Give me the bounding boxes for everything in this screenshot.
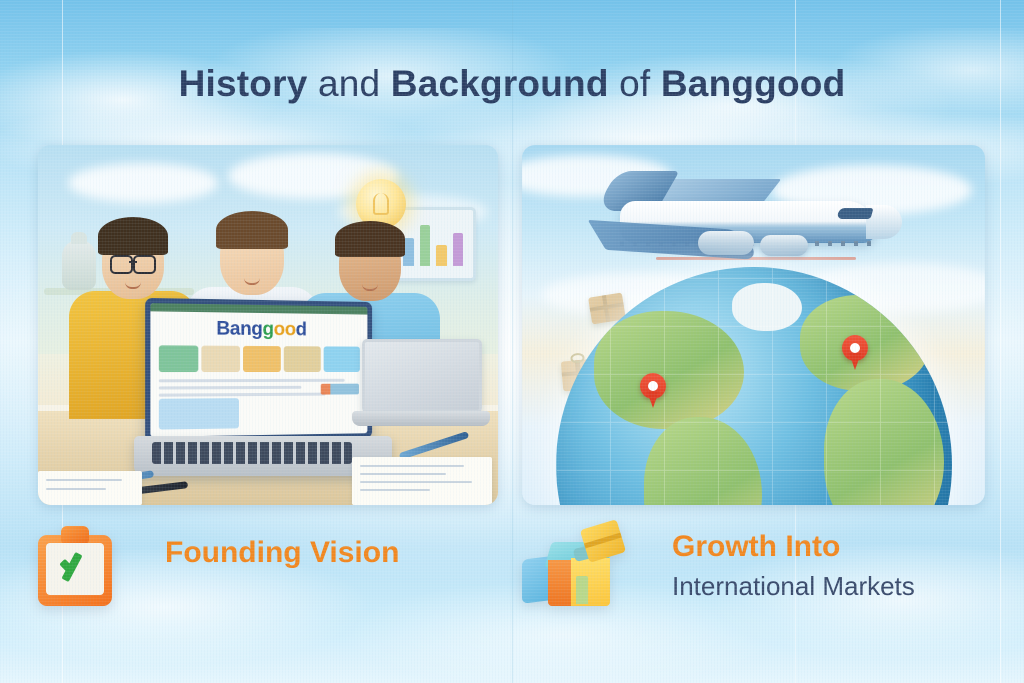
map-pin-europe[interactable] [842, 335, 868, 371]
site-topbar [150, 303, 367, 314]
cloud [68, 163, 218, 203]
title-part-banggood: Banggood [661, 63, 846, 104]
logo-oo: oo [274, 319, 296, 340]
promo-card [159, 398, 239, 429]
laptop-secondary-base [352, 411, 490, 426]
banggood-logo: Banggood [150, 319, 367, 341]
product-tiles [159, 345, 360, 372]
livery-stripe [656, 257, 856, 260]
logo-g: g [263, 319, 274, 340]
airplane-icon [590, 173, 890, 278]
engine [698, 231, 754, 255]
document-sheet [38, 471, 142, 505]
logo-d: d [296, 319, 307, 340]
caption-text-block: Founding Vision [165, 534, 399, 572]
title-part-history: History [179, 63, 318, 104]
banggood-webpage: Banggood [150, 303, 367, 437]
engine [760, 235, 808, 256]
panel-growth-international[interactable] [522, 145, 985, 505]
caption-subtitle: International Markets [672, 568, 915, 604]
clipboard-check-icon [38, 526, 112, 606]
page-title: History and Background of Banggood [0, 62, 1024, 106]
laptop-screen: Banggood [145, 298, 372, 442]
panel-founding-vision[interactable]: Banggood [38, 145, 498, 505]
title-part-background: Background [391, 63, 619, 104]
infographic-canvas: History and Background of Banggood [0, 0, 1024, 683]
map-pin-americas[interactable] [640, 373, 666, 409]
caption-title: Founding Vision [165, 534, 399, 572]
caption-title: Growth Into [672, 528, 915, 566]
house-package-icon [522, 524, 626, 610]
cockpit-window [836, 208, 873, 219]
logo-bang: Bang [216, 318, 262, 340]
document-sheet [352, 457, 492, 505]
caption-text-block: Growth Into International Markets [672, 528, 915, 604]
laptop-secondary[interactable] [350, 339, 482, 431]
caption-founding-vision: Founding Vision [38, 520, 498, 630]
title-part-of: of [619, 63, 661, 104]
caption-growth-international: Growth Into International Markets [522, 520, 985, 630]
laptop-secondary-screen [362, 339, 482, 413]
laptop-keys [152, 442, 352, 464]
title-part-and: and [318, 63, 391, 104]
